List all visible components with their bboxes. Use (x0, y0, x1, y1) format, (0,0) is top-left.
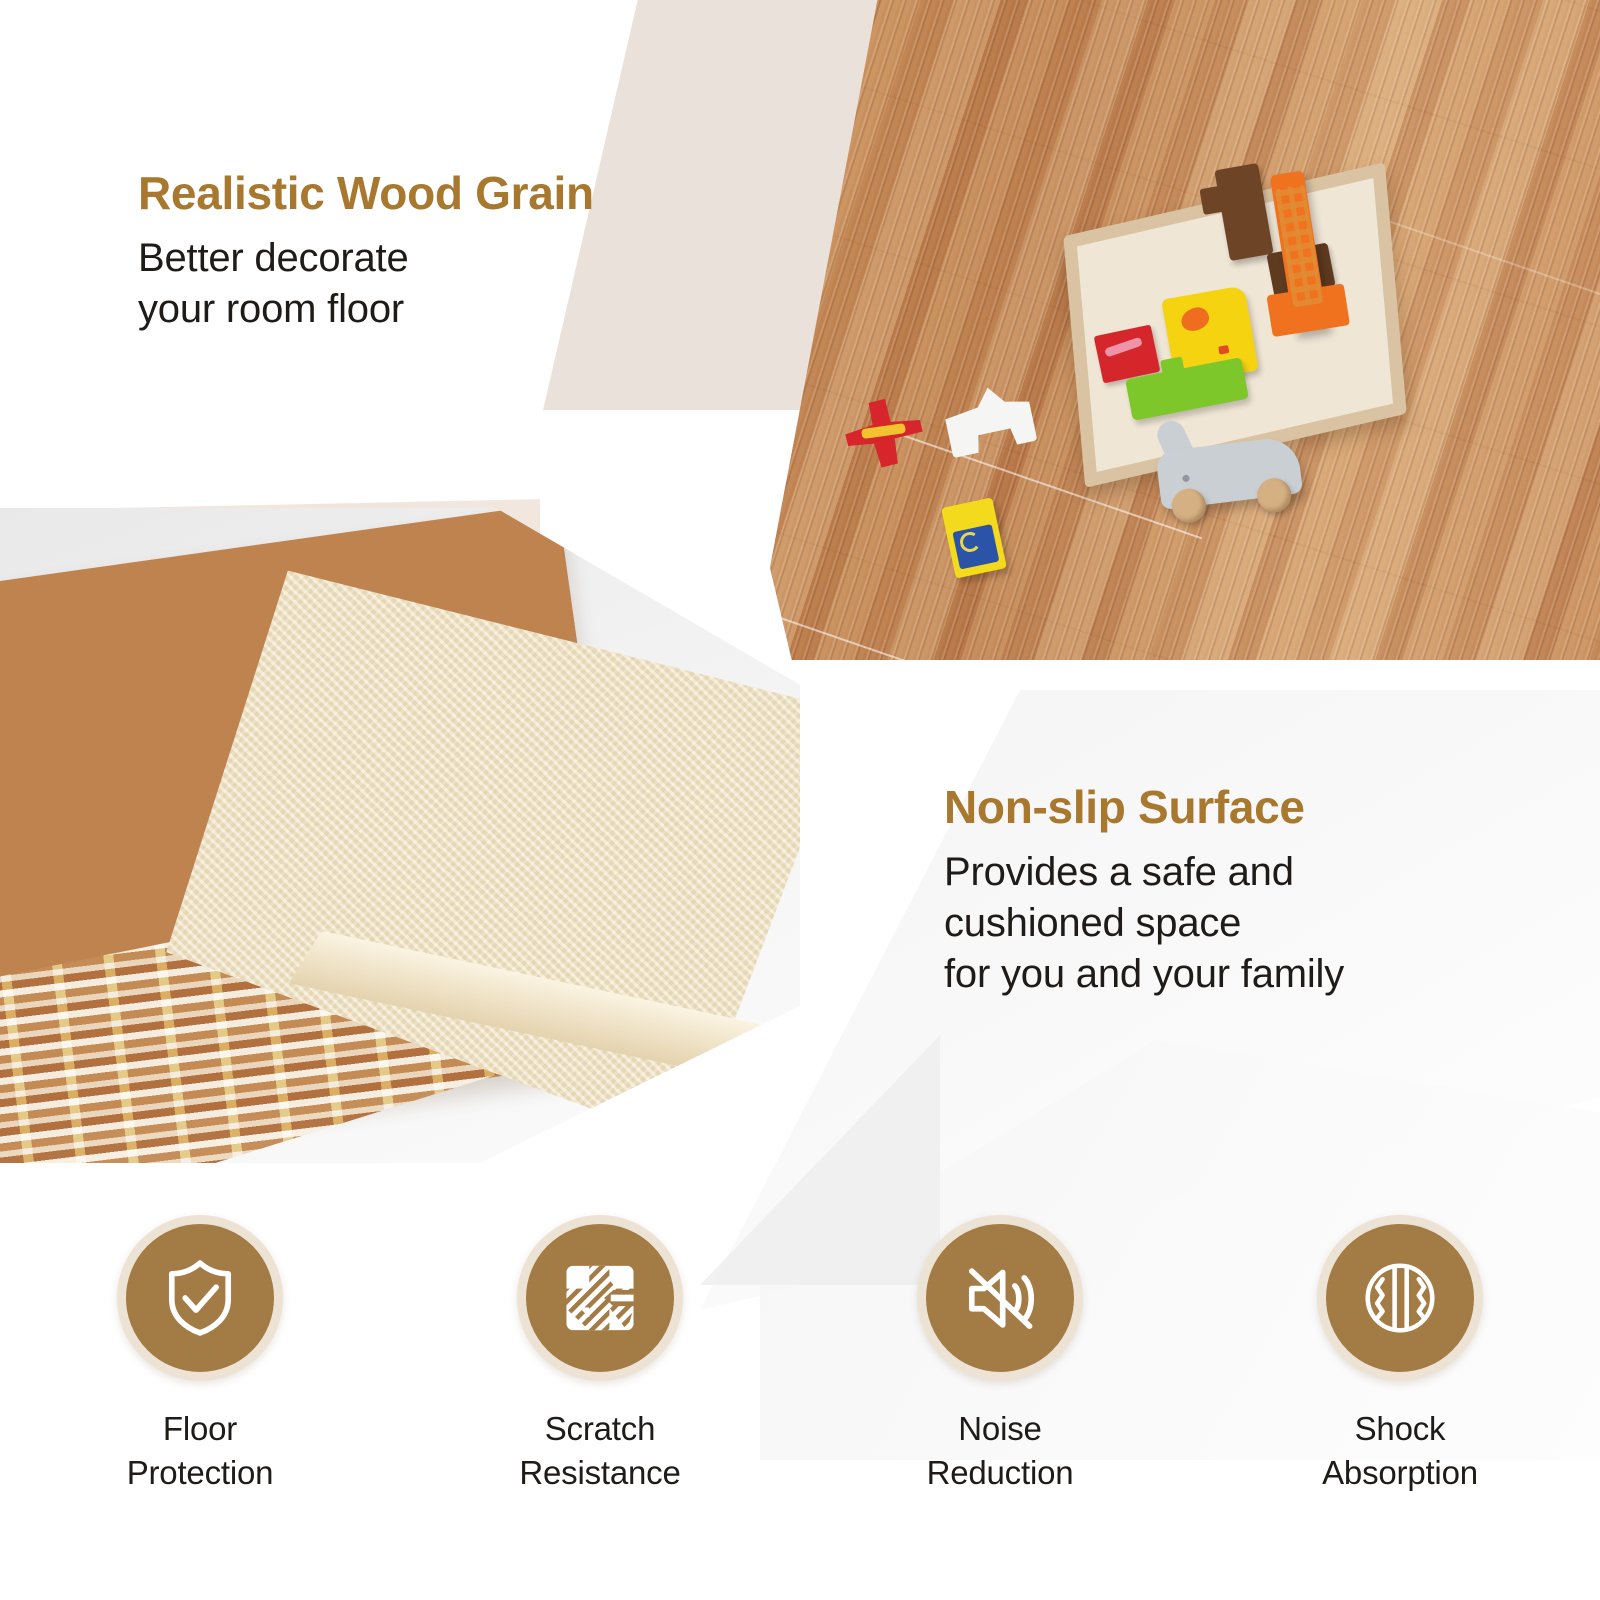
subline-line: for you and your family (944, 949, 1544, 1000)
photo-wood-floor-with-toys (770, 0, 1600, 660)
label-line: Scratch (519, 1407, 680, 1451)
feature-icon-badge (517, 1215, 683, 1381)
shield-check-icon (157, 1255, 243, 1341)
feature-icon-badge (1317, 1215, 1483, 1381)
toy-pull-rabbit (1143, 421, 1308, 523)
subline-line: cushioned space (944, 898, 1544, 949)
label-line: Shock (1322, 1407, 1478, 1451)
label-line: Resistance (519, 1451, 680, 1495)
infographic-stage: Realistic Wood Grain Better decorate you… (0, 0, 1600, 1600)
subline-line: Provides a safe and (944, 847, 1544, 898)
feature-label-scratch-resistance: Scratch Resistance (519, 1407, 680, 1494)
feature-label-shock-absorption: Shock Absorption (1322, 1407, 1478, 1494)
feature-shock-absorption: Shock Absorption (1200, 1215, 1600, 1555)
feature-icon-badge (917, 1215, 1083, 1381)
feature-label-noise-reduction: Noise Reduction (927, 1407, 1074, 1494)
text-block-non-slip-surface: Non-slip Surface Provides a safe and cus… (944, 782, 1544, 1000)
feature-floor-protection: Floor Protection (0, 1215, 400, 1555)
headline-realistic-wood-grain: Realistic Wood Grain (138, 168, 758, 219)
feature-icon-badge (117, 1215, 283, 1381)
feature-label-floor-protection: Floor Protection (127, 1407, 274, 1494)
label-line: Floor (127, 1407, 274, 1451)
scratch-panel-icon (557, 1255, 643, 1341)
subline-non-slip-surface: Provides a safe and cushioned space for … (944, 847, 1544, 1001)
feature-noise-reduction: Noise Reduction (800, 1215, 1200, 1555)
label-line: Noise (927, 1407, 1074, 1451)
shock-wave-icon (1357, 1255, 1443, 1341)
muted-speaker-icon (957, 1255, 1043, 1341)
subline-realistic-wood-grain: Better decorate your room floor (138, 233, 758, 335)
label-line: Protection (127, 1451, 274, 1495)
feature-row: Floor Protection (0, 1215, 1600, 1555)
feature-scratch-resistance: Scratch Resistance (400, 1215, 800, 1555)
subline-line: Better decorate (138, 233, 758, 284)
headline-non-slip-surface: Non-slip Surface (944, 782, 1544, 833)
text-block-realistic-wood-grain: Realistic Wood Grain Better decorate you… (138, 168, 758, 335)
label-line: Reduction (927, 1451, 1074, 1495)
subline-line: your room floor (138, 284, 758, 335)
label-line: Absorption (1322, 1451, 1478, 1495)
